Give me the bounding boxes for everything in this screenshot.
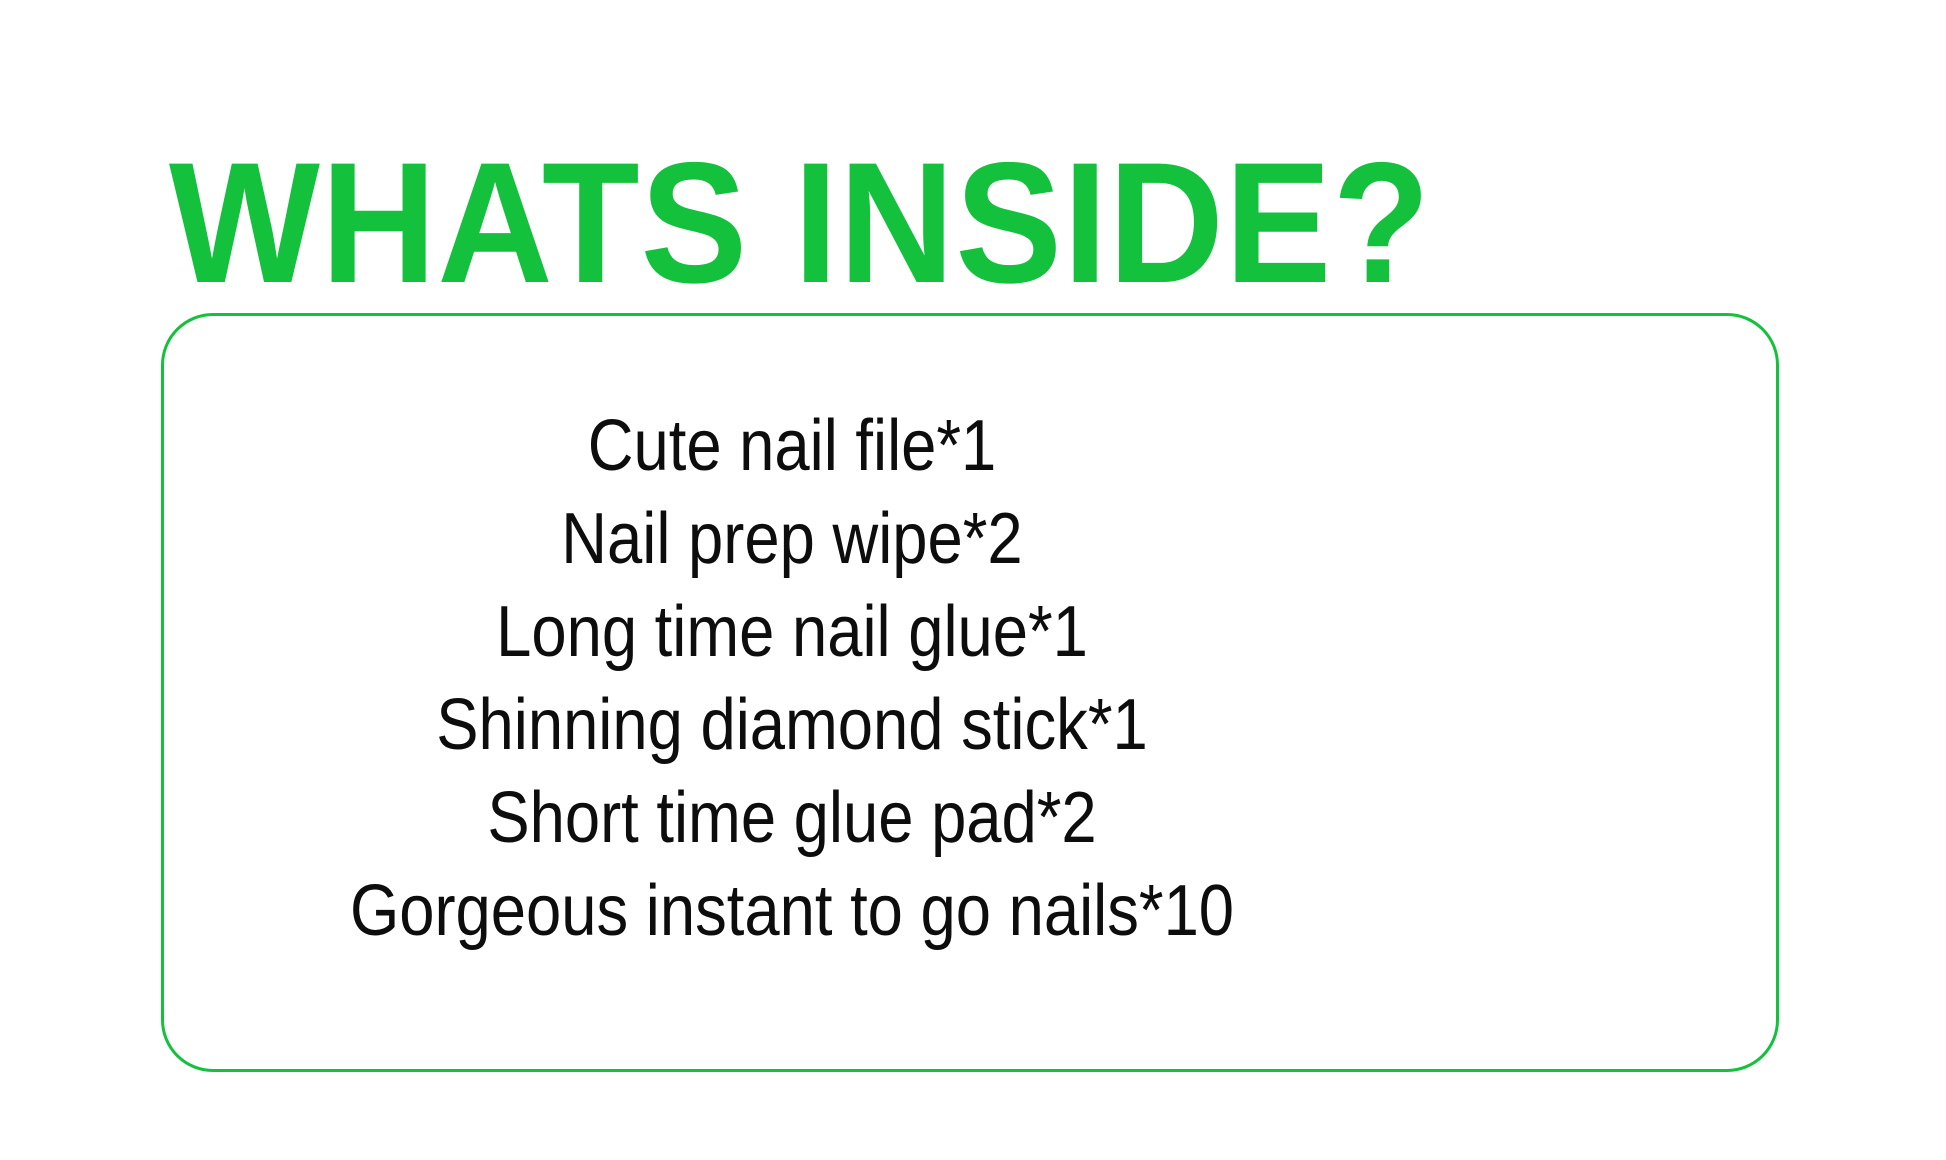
- list-item: Cute nail file*1: [237, 400, 1348, 493]
- list-item: Gorgeous instant to go nails*10: [237, 865, 1348, 958]
- list-item: Nail prep wipe*2: [237, 493, 1348, 586]
- list-item: Shinning diamond stick*1: [237, 679, 1348, 772]
- list-item: Long time nail glue*1: [237, 586, 1348, 679]
- list-item: Short time glue pad*2: [237, 772, 1348, 865]
- contents-item-list: Cute nail file*1 Nail prep wipe*2 Long t…: [161, 400, 1423, 958]
- page-title: WHATS INSIDE?: [56, 137, 1544, 309]
- whats-inside-panel: WHATS INSIDE? Cute nail file*1 Nail prep…: [0, 0, 1946, 1160]
